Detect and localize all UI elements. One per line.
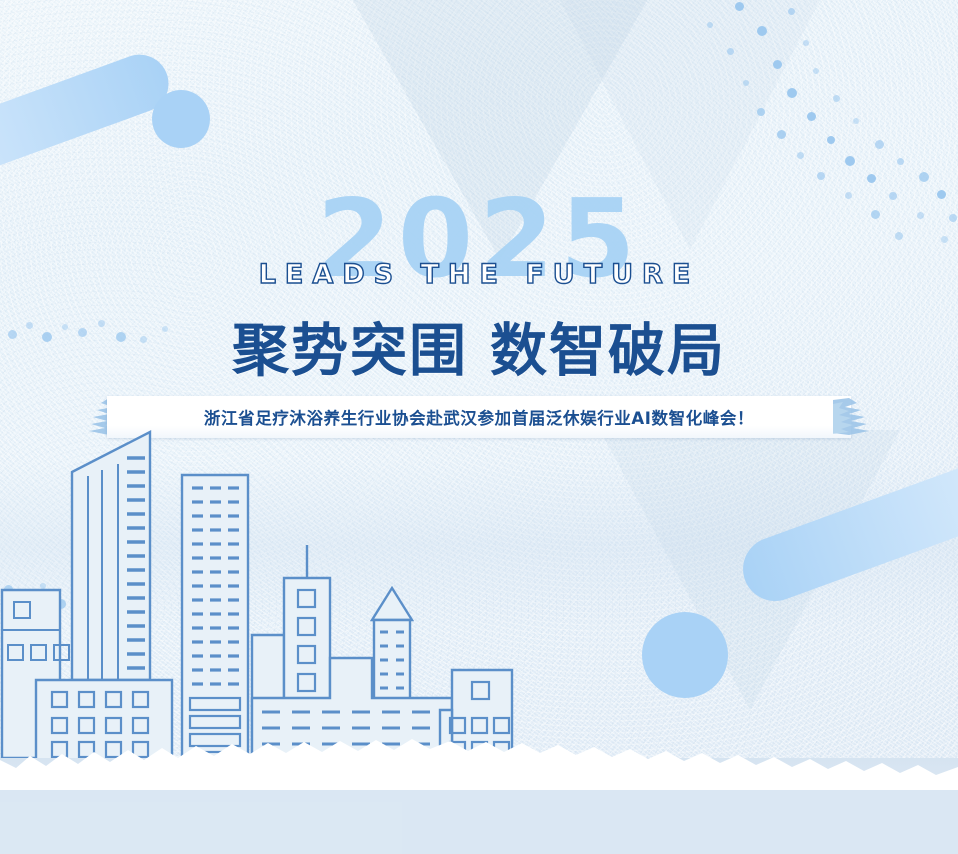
ribbon-tail-right-icon xyxy=(831,398,879,436)
background-triangle-shape xyxy=(600,430,900,710)
ribbon-sheet: 浙江省足疗沐浴养生行业协会赴武汉参加首届泛休娱行业AI数智化峰会！ xyxy=(107,396,851,438)
torn-paper-edge xyxy=(0,714,958,854)
dot-cluster-mid-left xyxy=(180,520,320,630)
title-part-1: 聚势突围 xyxy=(232,318,468,384)
city-skyline-illustration xyxy=(0,430,560,770)
capsule-decoration-top-left xyxy=(0,47,177,177)
title-part-2: 数智破局 xyxy=(490,318,726,384)
poster-canvas: 2025 LEADS THE FUTURE 聚势突围数智破局 浙江省足疗沐浴养生… xyxy=(0,0,958,854)
dot-cluster-left-lower xyxy=(0,575,190,665)
bottom-band xyxy=(0,758,958,854)
circle-decoration-top-left xyxy=(152,90,210,148)
circle-decoration-bottom-right xyxy=(642,612,728,698)
kicker-text: LEADS THE FUTURE xyxy=(0,259,958,290)
page-title: 聚势突围数智破局 xyxy=(0,305,958,387)
capsule-decoration-bottom-right xyxy=(734,454,958,610)
ribbon-text: 浙江省足疗沐浴养生行业协会赴武汉参加首届泛休娱行业AI数智化峰会！ xyxy=(204,405,754,429)
ribbon-banner: 浙江省足疗沐浴养生行业协会赴武汉参加首届泛休娱行业AI数智化峰会！ xyxy=(79,396,879,438)
background-soft-band xyxy=(0,460,958,630)
